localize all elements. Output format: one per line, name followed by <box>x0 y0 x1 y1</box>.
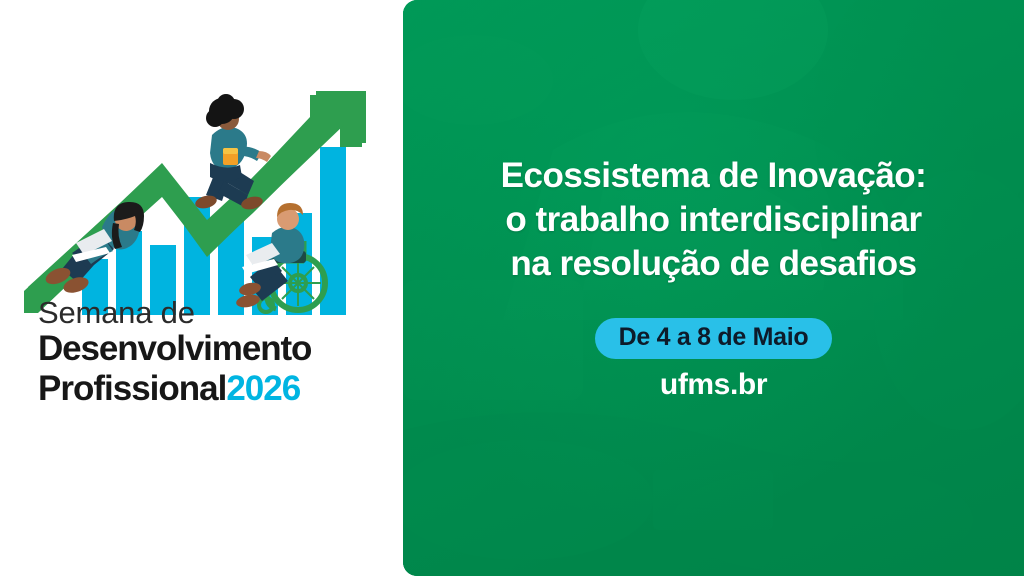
logo-word-profissional: Profissional <box>38 369 226 408</box>
event-logo-lockup: Semana de Desenvolvimento Profissional20… <box>38 296 368 408</box>
photo-vignette <box>403 0 1024 576</box>
logo-line-desenvolvimento: Desenvolvimento <box>38 329 368 368</box>
left-logo-panel: Semana de Desenvolvimento Profissional20… <box>0 0 403 576</box>
promotional-banner: Semana de Desenvolvimento Profissional20… <box>0 0 1024 576</box>
headline-line-2: o trabalho interdisciplinar <box>433 198 994 242</box>
date-badge-container: De 4 a 8 de Maio <box>433 318 994 359</box>
date-badge: De 4 a 8 de Maio <box>595 318 833 359</box>
website-url[interactable]: ufms.br <box>433 368 994 402</box>
growth-chart-illustration <box>10 55 400 315</box>
right-content-panel: Ecossistema de Inovação: o trabalho inte… <box>403 0 1024 576</box>
headline-line-3: na resolução de desafios <box>433 242 994 286</box>
logo-line-profissional-year: Profissional2026 <box>38 369 368 408</box>
event-headline: Ecossistema de Inovação: o trabalho inte… <box>433 154 994 286</box>
logo-line-semana: Semana de <box>38 296 368 329</box>
logo-year: 2026 <box>226 369 300 408</box>
headline-line-1: Ecossistema de Inovação: <box>433 154 994 198</box>
